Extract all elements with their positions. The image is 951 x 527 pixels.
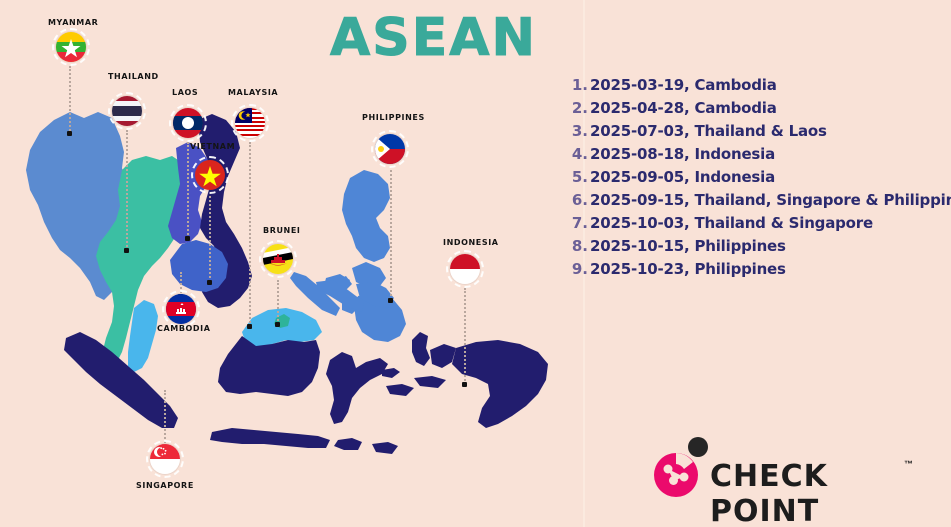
list-item: 9.2025-10-23, Philippines <box>566 260 951 283</box>
pin-myanmar[interactable] <box>52 28 90 66</box>
map-country-indonesia-sunda2 <box>372 442 398 454</box>
check-point-logo-mark-icon <box>654 453 698 497</box>
pin-vietnam[interactable] <box>191 156 229 194</box>
leader-line-myanmar <box>69 66 71 131</box>
leader-line-philippines <box>390 170 392 300</box>
list-item-number: 7. <box>566 214 588 232</box>
list-item-text: 2025-10-23, Philippines <box>590 260 786 278</box>
pin-cambodia[interactable] <box>162 290 200 328</box>
list-item-number: 9. <box>566 260 588 278</box>
check-point-logo-dot-icon <box>688 437 708 457</box>
map-country-indonesia-sunda <box>334 438 362 450</box>
pin-label-brunei: BRUNEI <box>263 226 301 235</box>
pin-label-thailand: THAILAND <box>108 72 159 81</box>
check-point-logo: CHECK POINT ™ <box>654 437 914 499</box>
pin-label-vietnam: VIETNAM <box>190 142 235 151</box>
pin-label-singapore: SINGAPORE <box>136 481 194 490</box>
pin-label-philippines: PHILIPPINES <box>362 113 425 122</box>
pin-laos[interactable] <box>169 104 207 142</box>
leader-line-laos <box>187 142 189 238</box>
list-item-text: 2025-04-28, Cambodia <box>590 99 777 117</box>
map-country-indonesia-papua-west <box>430 344 456 368</box>
pin-philippines[interactable] <box>371 130 409 168</box>
list-item: 4.2025-08-18, Indonesia <box>566 145 951 168</box>
map-marker-vietnam <box>207 280 212 285</box>
map-marker-indonesia <box>462 382 467 387</box>
list-item-text: 2025-09-15, Thailand, Singapore & Philip… <box>590 191 951 209</box>
list-item-number: 8. <box>566 237 588 255</box>
leader-line-indonesia <box>464 288 466 384</box>
leader-line-singapore <box>164 390 166 446</box>
pin-ring <box>52 28 90 66</box>
list-item-number: 2. <box>566 99 588 117</box>
list-item: 7.2025-10-03, Thailand & Singapore <box>566 214 951 237</box>
pin-indonesia[interactable] <box>446 250 484 288</box>
map-country-indonesia-halmahera <box>412 332 430 366</box>
list-item-number: 4. <box>566 145 588 163</box>
list-item-text: 2025-07-03, Thailand & Laos <box>590 122 827 140</box>
pin-ring <box>231 104 269 142</box>
pin-brunei[interactable] <box>259 240 297 278</box>
map-country-indonesia-borneo <box>218 336 320 396</box>
page-title: ASEAN <box>330 8 537 68</box>
pin-ring <box>169 104 207 142</box>
map-country-indonesia-island-a <box>386 384 414 396</box>
pin-label-indonesia: INDONESIA <box>443 238 499 247</box>
list-item: 3.2025-07-03, Thailand & Laos <box>566 122 951 145</box>
list-item-text: 2025-10-03, Thailand & Singapore <box>590 214 873 232</box>
list-item: 5.2025-09-05, Indonesia <box>566 168 951 191</box>
infographic-canvas: MYANMAR THAILAND LAOS MALAYSIA <box>0 0 951 527</box>
pin-label-laos: LAOS <box>172 88 198 97</box>
list-item-text: 2025-03-19, Cambodia <box>590 76 777 94</box>
list-item-number: 3. <box>566 122 588 140</box>
pin-ring <box>162 290 200 328</box>
map-country-indonesia-java <box>210 428 330 448</box>
event-list: 1.2025-03-19, Cambodia 2.2025-04-28, Cam… <box>566 76 951 283</box>
pin-ring <box>371 130 409 168</box>
pin-ring <box>191 156 229 194</box>
pin-label-cambodia: CAMBODIA <box>157 324 211 333</box>
list-item-number: 1. <box>566 76 588 94</box>
map-marker-laos <box>185 236 190 241</box>
map-marker-thailand <box>124 248 129 253</box>
leader-line-brunei <box>277 280 279 324</box>
pin-ring <box>108 92 146 130</box>
map-marker-malaysia <box>247 324 252 329</box>
list-item-text: 2025-08-18, Indonesia <box>590 145 775 163</box>
leader-line-thailand <box>126 130 128 250</box>
pin-label-myanmar: MYANMAR <box>48 18 98 27</box>
map-country-philippines-luzon <box>342 170 390 262</box>
pin-malaysia[interactable] <box>231 104 269 142</box>
map-country-indonesia-sulawesi <box>326 352 388 424</box>
map-marker-brunei <box>275 322 280 327</box>
map-marker-myanmar <box>67 131 72 136</box>
list-item-number: 6. <box>566 191 588 209</box>
list-item: 1.2025-03-19, Cambodia <box>566 76 951 99</box>
pin-ring <box>446 250 484 288</box>
check-point-logo-text: CHECK POINT <box>710 459 914 527</box>
leader-line-vietnam <box>209 196 211 282</box>
leader-line-malaysia <box>249 142 251 326</box>
pin-ring <box>146 440 184 478</box>
list-item-text: 2025-10-15, Philippines <box>590 237 786 255</box>
map-country-indonesia-island-b <box>414 376 446 388</box>
list-item: 8.2025-10-15, Philippines <box>566 237 951 260</box>
list-item: 6.2025-09-15, Thailand, Singapore & Phil… <box>566 191 951 214</box>
pin-singapore[interactable] <box>146 440 184 478</box>
map-country-indonesia-island-c <box>382 368 400 378</box>
check-point-logo-tm: ™ <box>904 459 913 469</box>
list-item: 2.2025-04-28, Cambodia <box>566 99 951 122</box>
map-marker-philippines <box>388 298 393 303</box>
pin-thailand[interactable] <box>108 92 146 130</box>
list-item-text: 2025-09-05, Indonesia <box>590 168 775 186</box>
pin-ring <box>259 240 297 278</box>
list-item-number: 5. <box>566 168 588 186</box>
pin-label-malaysia: MALAYSIA <box>228 88 278 97</box>
